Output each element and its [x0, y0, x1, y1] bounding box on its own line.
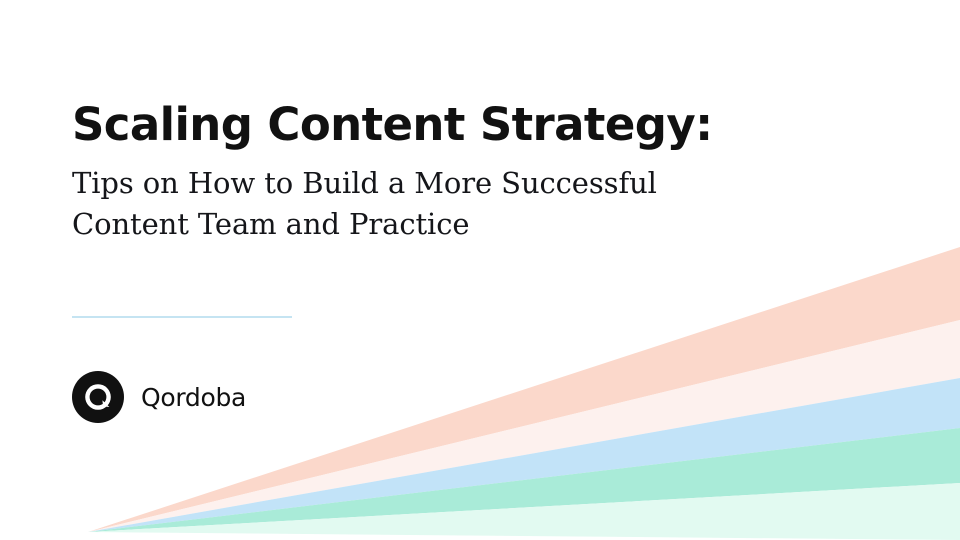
brand-logo-lockup: Qordoba [72, 371, 246, 423]
brand-name: Qordoba [141, 385, 246, 410]
divider [72, 316, 292, 318]
pale-pink-band [88, 320, 960, 532]
title-text-block: Scaling Content Strategy: Tips on How to… [72, 98, 772, 245]
title-slide: Scaling Content Strategy: Tips on How to… [0, 0, 960, 540]
fan-ribbon-graphic [0, 0, 960, 540]
pale-mint-band [88, 483, 960, 540]
page-subtitle: Tips on How to Build a More Successful C… [72, 163, 712, 245]
qordoba-logo-icon [72, 371, 124, 423]
mint-band [88, 428, 960, 532]
page-title: Scaling Content Strategy: [72, 98, 772, 151]
